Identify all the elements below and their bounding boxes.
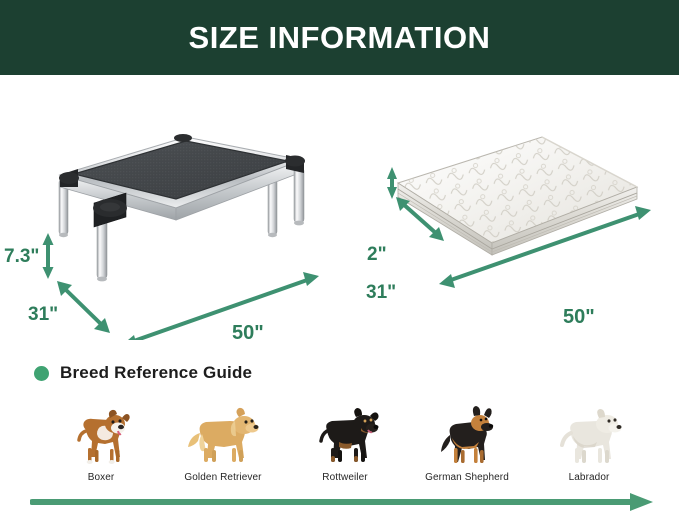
pad-height-label: 2"	[367, 245, 387, 264]
breed-item-german-shepherd: German Shepherd	[406, 400, 528, 483]
pad-width-label: 31"	[366, 283, 396, 302]
breed-label: German Shepherd	[425, 472, 509, 483]
elevated-bed-diagram: 7.3" 31" 50"	[0, 75, 352, 340]
size-information-page: SIZE INFORMATION	[0, 0, 679, 517]
breed-item-golden-retriever: Golden Retriever	[162, 400, 284, 483]
mattress-pad-diagram	[352, 75, 679, 340]
breed-label: Boxer	[88, 472, 115, 483]
german-shepherd-image	[436, 400, 498, 466]
pad-length-label: 50"	[563, 307, 595, 327]
size-progression-arrow	[30, 493, 655, 511]
green-dot-icon	[34, 366, 49, 381]
bed-height-label: 7.3"	[4, 247, 39, 266]
breed-label: Rottweiler	[322, 472, 367, 483]
breed-reference-section: Breed Reference Guide	[0, 345, 679, 517]
bed-width-label: 31"	[28, 305, 58, 324]
breed-item-labrador: Labrador	[528, 400, 650, 483]
page-header-bar: SIZE INFORMATION	[0, 0, 679, 75]
breed-item-boxer: Boxer	[40, 400, 162, 483]
breed-reference-heading: Breed Reference Guide	[34, 363, 252, 383]
product-diagrams-region: 7.3" 31" 50"	[0, 75, 679, 340]
boxer-image	[66, 400, 136, 466]
page-title: SIZE INFORMATION	[189, 22, 491, 53]
rottweiler-image	[309, 400, 381, 466]
mattress-pad-illustration	[352, 75, 679, 340]
breed-item-rottweiler: Rottweiler	[284, 400, 406, 483]
golden-retriever-image	[182, 400, 264, 466]
breed-reference-heading-text: Breed Reference Guide	[60, 363, 252, 383]
labrador-image	[553, 400, 625, 466]
bed-length-label: 50"	[232, 323, 264, 343]
breed-label: Labrador	[569, 472, 610, 483]
elevated-bed-illustration	[0, 75, 352, 340]
breed-list: Boxer	[40, 393, 650, 483]
breed-label: Golden Retriever	[184, 472, 261, 483]
